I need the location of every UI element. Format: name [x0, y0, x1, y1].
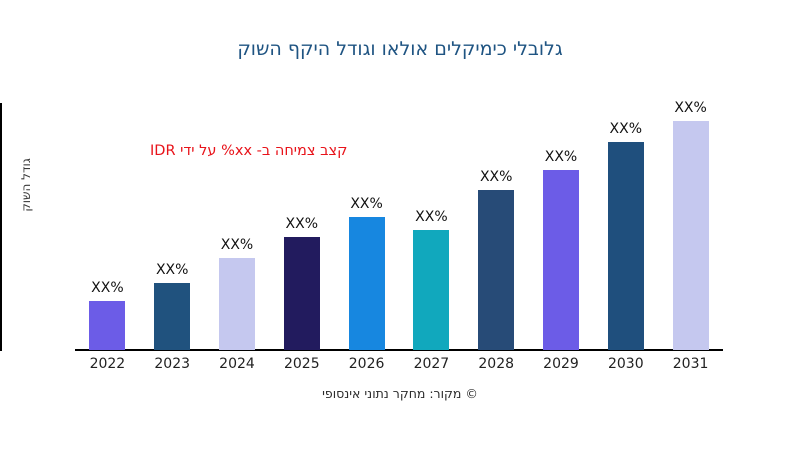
bar-group: XX% [269, 103, 334, 350]
page-title: גלובלי כימיקלים אולאו וגודל היקף השוק [0, 38, 800, 60]
bar-group: XX% [75, 103, 140, 350]
y-axis-label: גודל השוק [19, 158, 33, 212]
x-axis-tick-2027: 2027 [399, 356, 464, 372]
bar-group: XX% [529, 103, 594, 350]
bar[interactable] [284, 237, 320, 350]
x-axis-tick-2022: 2022 [75, 356, 140, 372]
bar-value-label: XX% [545, 149, 577, 165]
bar-value-label: XX% [480, 169, 512, 185]
bar[interactable] [608, 142, 644, 350]
x-axis-tick-2028: 2028 [464, 356, 529, 372]
bar[interactable] [543, 170, 579, 350]
x-axis-tick-2025: 2025 [269, 356, 334, 372]
bar-value-label: XX% [286, 216, 318, 232]
x-axis-tick-2023: 2023 [140, 356, 205, 372]
x-axis-tick-2030: 2030 [593, 356, 658, 372]
bar[interactable] [349, 217, 385, 350]
bar-group: XX% [399, 103, 464, 350]
bar-group: XX% [658, 103, 723, 350]
x-axis-tick-2026: 2026 [334, 356, 399, 372]
bar[interactable] [673, 121, 709, 350]
bar-group: XX% [334, 103, 399, 350]
bar-group: XX% [593, 103, 658, 350]
bar-group: XX% [464, 103, 529, 350]
source-caption: © מקור: מחקר נתוני אינסופי [0, 386, 800, 401]
bar-series: XX%XX%XX%XX%XX%XX%XX%XX%XX%XX% [75, 103, 723, 350]
x-axis-tick-2024: 2024 [205, 356, 270, 372]
bar-group: XX% [205, 103, 270, 350]
bar-value-label: XX% [156, 262, 188, 278]
bar-value-label: XX% [350, 196, 382, 212]
y-axis-line [0, 103, 2, 351]
bar-value-label: XX% [91, 280, 123, 296]
y-axis-label-wrap: גודל השוק [14, 130, 38, 240]
bar-value-label: XX% [415, 209, 447, 225]
bar-group: XX% [140, 103, 205, 350]
bar[interactable] [413, 230, 449, 350]
bar-value-label: XX% [221, 237, 253, 253]
x-axis-tick-2031: 2031 [658, 356, 723, 372]
bar-value-label: XX% [610, 121, 642, 137]
bar[interactable] [89, 301, 125, 350]
chart-container: גלובלי כימיקלים אולאו וגודל היקף השוק גו… [0, 0, 800, 450]
bar-value-label: XX% [674, 100, 706, 116]
bar[interactable] [219, 258, 255, 350]
x-axis-tick-2029: 2029 [529, 356, 594, 372]
bar[interactable] [154, 283, 190, 350]
x-axis-tick-labels: 2022202320242025202620272028202920302031 [75, 356, 723, 378]
bar[interactable] [478, 190, 514, 350]
